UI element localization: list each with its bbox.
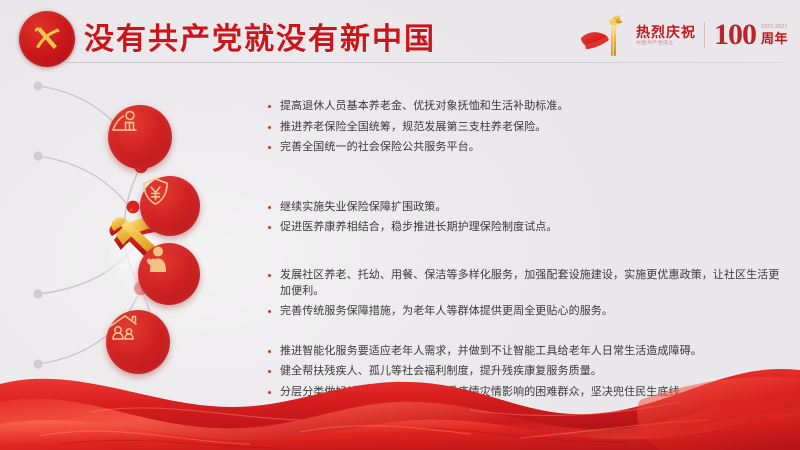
bullet-dot bbox=[268, 310, 271, 313]
elderly-care-heart-icon bbox=[138, 243, 170, 275]
list-item: 提高退休人员基本养老金、优抚对象抚恤和生活补助标准。 bbox=[268, 98, 788, 114]
anniversary-celebrate: 热烈庆祝 中国共产党成立 bbox=[636, 25, 696, 46]
anniversary-years-cn: 周年 bbox=[761, 32, 788, 45]
slide-root: 没有共产党就没有新中国 bbox=[0, 0, 800, 450]
content-group-2: 继续实施失业保险保障扩围政策。 促进医养康养相结合，稳步推进长期护理保险制度试点… bbox=[268, 199, 788, 235]
anniversary-number: 100 bbox=[714, 20, 756, 50]
list-item: 完善全国统一的社会保险公共服务平台。 bbox=[268, 139, 788, 155]
bullet-text: 推进养老保险全国统筹，规范发展第三支柱养老保险。 bbox=[280, 119, 546, 135]
bullet-text: 提高退休人员基本养老金、优抚对象抚恤和生活补助标准。 bbox=[280, 98, 569, 114]
anniversary-years-range: 1921-2021 bbox=[761, 25, 788, 30]
shield-yuan-icon bbox=[140, 176, 171, 207]
anniversary-divider bbox=[704, 22, 705, 48]
bullet-text: 继续实施失业保险保障扩围政策。 bbox=[280, 199, 447, 215]
anniversary-logo: 热烈庆祝 中国共产党成立 100 1921-2021 周年 bbox=[579, 12, 788, 58]
slide-header: 没有共产党就没有新中国 bbox=[0, 0, 800, 72]
person-shelter-icon bbox=[108, 105, 142, 139]
node-insurance[interactable] bbox=[140, 176, 200, 236]
list-item: 推进养老保险全国统筹，规范发展第三支柱养老保险。 bbox=[268, 119, 788, 135]
bullet-text: 完善全国统一的社会保险公共服务平台。 bbox=[280, 139, 480, 155]
title-divider bbox=[62, 62, 784, 63]
list-item: 促进医养康养相结合，稳步推进长期护理保险制度试点。 bbox=[268, 219, 788, 235]
hammer-sickle-icon bbox=[19, 11, 75, 67]
bullet-dot bbox=[268, 126, 271, 129]
bullet-dot bbox=[268, 146, 271, 149]
bullet-dot bbox=[268, 206, 271, 209]
bullet-text: 促进医养康养相结合，稳步推进长期护理保险制度试点。 bbox=[280, 219, 558, 235]
bullet-text: 发展社区养老、托幼、用餐、保洁等多样化服务，加强配套设施建设，实施更优惠政策，让… bbox=[280, 267, 788, 298]
bullet-dot bbox=[268, 226, 271, 229]
bullet-text: 完善传统服务保障措施，为老年人等群体提供更周全更贴心的服务。 bbox=[280, 303, 613, 319]
node-pension[interactable] bbox=[108, 105, 172, 169]
list-item: 继续实施失业保险保障扩围政策。 bbox=[268, 199, 788, 215]
node-care[interactable] bbox=[138, 243, 200, 305]
list-item: 发展社区养老、托幼、用餐、保洁等多样化服务，加强配套设施建设，实施更优惠政策，让… bbox=[268, 267, 788, 298]
red-silk-ribbon bbox=[0, 340, 800, 450]
house-family-icon bbox=[106, 310, 140, 344]
content-group-1: 提高退休人员基本养老金、优抚对象抚恤和生活补助标准。 推进养老保险全国统筹，规范… bbox=[268, 98, 788, 155]
bullet-dot bbox=[268, 274, 271, 277]
page-title: 没有共产党就没有新中国 bbox=[84, 14, 436, 58]
bullet-dot bbox=[268, 105, 271, 108]
ribbon-torch-icon bbox=[579, 12, 633, 58]
celebrate-subtext: 中国共产党成立 bbox=[636, 41, 696, 46]
content-group-3: 发展社区养老、托幼、用餐、保洁等多样化服务，加强配套设施建设，实施更优惠政策，让… bbox=[268, 267, 788, 319]
list-item: 完善传统服务保障措施，为老年人等群体提供更周全更贴心的服务。 bbox=[268, 303, 788, 319]
celebrate-text: 热烈庆祝 bbox=[636, 25, 696, 39]
anniversary-years: 1921-2021 周年 bbox=[761, 25, 788, 45]
